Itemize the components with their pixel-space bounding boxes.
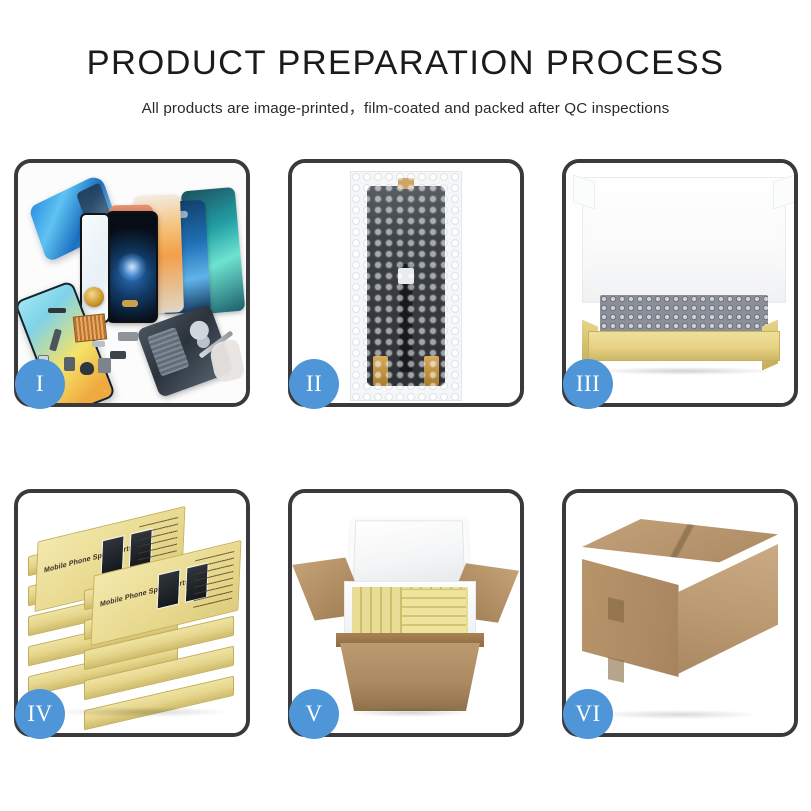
box-front-panel	[588, 331, 780, 361]
drop-shadow	[54, 707, 230, 717]
step-badge-1: I	[15, 359, 65, 409]
step-badge-5: V	[289, 689, 339, 739]
process-step-grid: I II	[14, 159, 797, 737]
retail-box-stack: Mobile Phone Spare Parts Mobile Phone Sp…	[24, 511, 246, 719]
sealed-carton	[582, 519, 778, 697]
small-part	[64, 357, 75, 371]
small-part	[98, 358, 111, 373]
drop-shadow	[350, 708, 470, 717]
process-step-4: Mobile Phone Spare Parts Mobile Phone Sp…	[14, 489, 250, 737]
infographic-page: PRODUCT PREPARATION PROCESS All products…	[0, 0, 811, 811]
step-badge-4: IV	[15, 689, 65, 739]
foam-lid	[348, 517, 469, 587]
bubble-wrap-bag	[350, 171, 462, 401]
process-step-3: III	[562, 159, 798, 407]
gold-connector	[373, 356, 388, 386]
step-badge-6: VI	[563, 689, 613, 739]
copper-coil-part	[84, 287, 104, 307]
carton-tape-patch	[608, 657, 624, 682]
packed-retail-boxes	[402, 589, 466, 633]
screen-ic-chip	[398, 268, 414, 284]
page-title: PRODUCT PREPARATION PROCESS	[0, 44, 811, 83]
bubble-wrapped-contents	[600, 295, 768, 335]
box-product-photo	[157, 569, 181, 610]
carton-right-face	[678, 544, 778, 674]
step-badge-3: III	[563, 359, 613, 409]
small-part	[92, 341, 105, 347]
process-step-5: V	[288, 489, 524, 737]
drop-shadow	[594, 367, 774, 375]
flex-cable-part	[118, 332, 138, 341]
gold-connector	[424, 356, 439, 386]
box-spec-lines	[193, 551, 234, 610]
process-step-2: II	[288, 159, 524, 407]
header: PRODUCT PREPARATION PROCESS All products…	[0, 0, 811, 118]
process-step-6: VI	[562, 489, 798, 737]
tape-tab	[398, 178, 414, 189]
page-subtitle: All products are image-printed，film-coat…	[0, 96, 811, 118]
process-step-1: I	[14, 159, 250, 407]
small-part	[110, 351, 126, 359]
drop-shadow	[600, 710, 756, 719]
small-part	[80, 362, 94, 375]
white-foam-liner	[592, 225, 776, 299]
small-part	[122, 300, 138, 307]
chip-array-part	[73, 313, 108, 342]
carton-body	[340, 643, 480, 711]
step-badge-2: II	[289, 359, 339, 409]
carton-tape-patch	[608, 597, 624, 622]
small-part	[48, 308, 66, 313]
